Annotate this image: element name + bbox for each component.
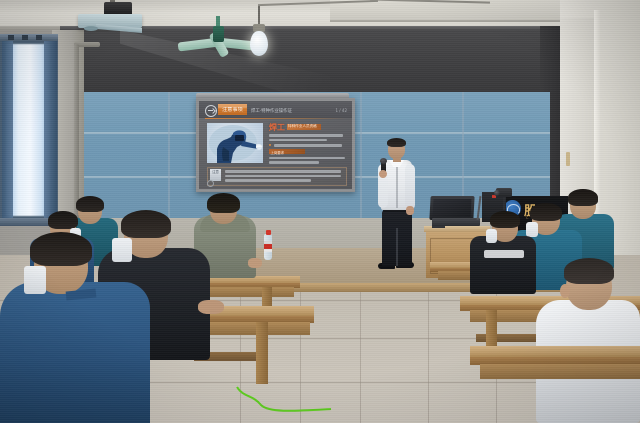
hand — [198, 300, 224, 314]
curtain-clip — [22, 35, 28, 40]
slide-body-line — [269, 134, 343, 137]
fan-hub — [213, 26, 224, 42]
bottle-label — [264, 241, 272, 252]
panel-vseam-1 — [168, 92, 170, 222]
curtain-clip — [36, 35, 42, 40]
slide-title-tag-label: 特种作业人员资格 — [288, 124, 317, 129]
slide-note-line — [225, 175, 341, 178]
tile-grout-line — [428, 292, 429, 423]
bulb-wire — [258, 6, 260, 26]
slide-subtag-1-label: 上岗要求 — [271, 150, 285, 155]
slide-bullet-dot — [269, 144, 271, 146]
note-icon-label: 注意 — [211, 170, 221, 174]
microphone-capsule — [380, 158, 387, 164]
projector-lens — [84, 26, 98, 31]
slide-note-line — [225, 170, 341, 173]
laptop-keyboard-base[interactable] — [432, 218, 480, 226]
light-bulb — [250, 31, 268, 56]
panel-vseam-2 — [360, 92, 362, 222]
presenter-hand-right — [406, 206, 414, 215]
welder-illustration — [207, 123, 263, 163]
projection-screen[interactable]: 注意事项 焊工·特种作业操作证 1 / 42 焊工 特种作业人员资格 — [196, 98, 355, 192]
switch-plate[interactable] — [566, 152, 570, 166]
presenter-leg-seam — [396, 228, 398, 266]
soffit-band — [60, 26, 560, 96]
jacket-print — [484, 250, 524, 258]
presenter-arm-right — [405, 164, 415, 210]
floor-cable — [235, 385, 355, 415]
camera-lens-icon — [494, 190, 500, 196]
arrow-circle-icon — [205, 105, 217, 117]
slide-section-chip-label: 注意事项 — [219, 107, 246, 114]
slide-divider — [205, 118, 346, 119]
bottle-cap — [266, 230, 271, 235]
curtain-right[interactable] — [44, 40, 57, 220]
curtain-clip — [8, 35, 14, 40]
classroom-scene: 注意事项 焊工·特种作业操作证 1 / 42 焊工 特种作业人员资格 — [0, 0, 640, 423]
slide-note-line — [225, 179, 311, 182]
curtain-left[interactable] — [2, 40, 13, 220]
slide-title: 焊工 — [269, 122, 285, 133]
slide-page-number: 1 / 42 — [335, 108, 347, 113]
hand — [248, 258, 262, 268]
camera-stand-leg — [503, 196, 505, 210]
laptop-screen — [433, 199, 472, 217]
presenter-hair — [387, 138, 406, 147]
presenter-hand-left — [379, 170, 387, 178]
slide-body-line — [269, 139, 327, 142]
slide-body-line — [274, 144, 342, 147]
slide-surface: 注意事项 焊工·特种作业操作证 1 / 42 焊工 特种作业人员资格 — [199, 101, 352, 189]
slide-body-line — [269, 161, 319, 164]
slide-corner-dot — [207, 180, 214, 187]
presenter-shirt-placket — [396, 166, 398, 208]
slide-breadcrumb: 焊工·特种作业操作证 — [251, 108, 292, 114]
slide-body-line — [269, 157, 345, 160]
tile-grout-line — [360, 292, 361, 423]
